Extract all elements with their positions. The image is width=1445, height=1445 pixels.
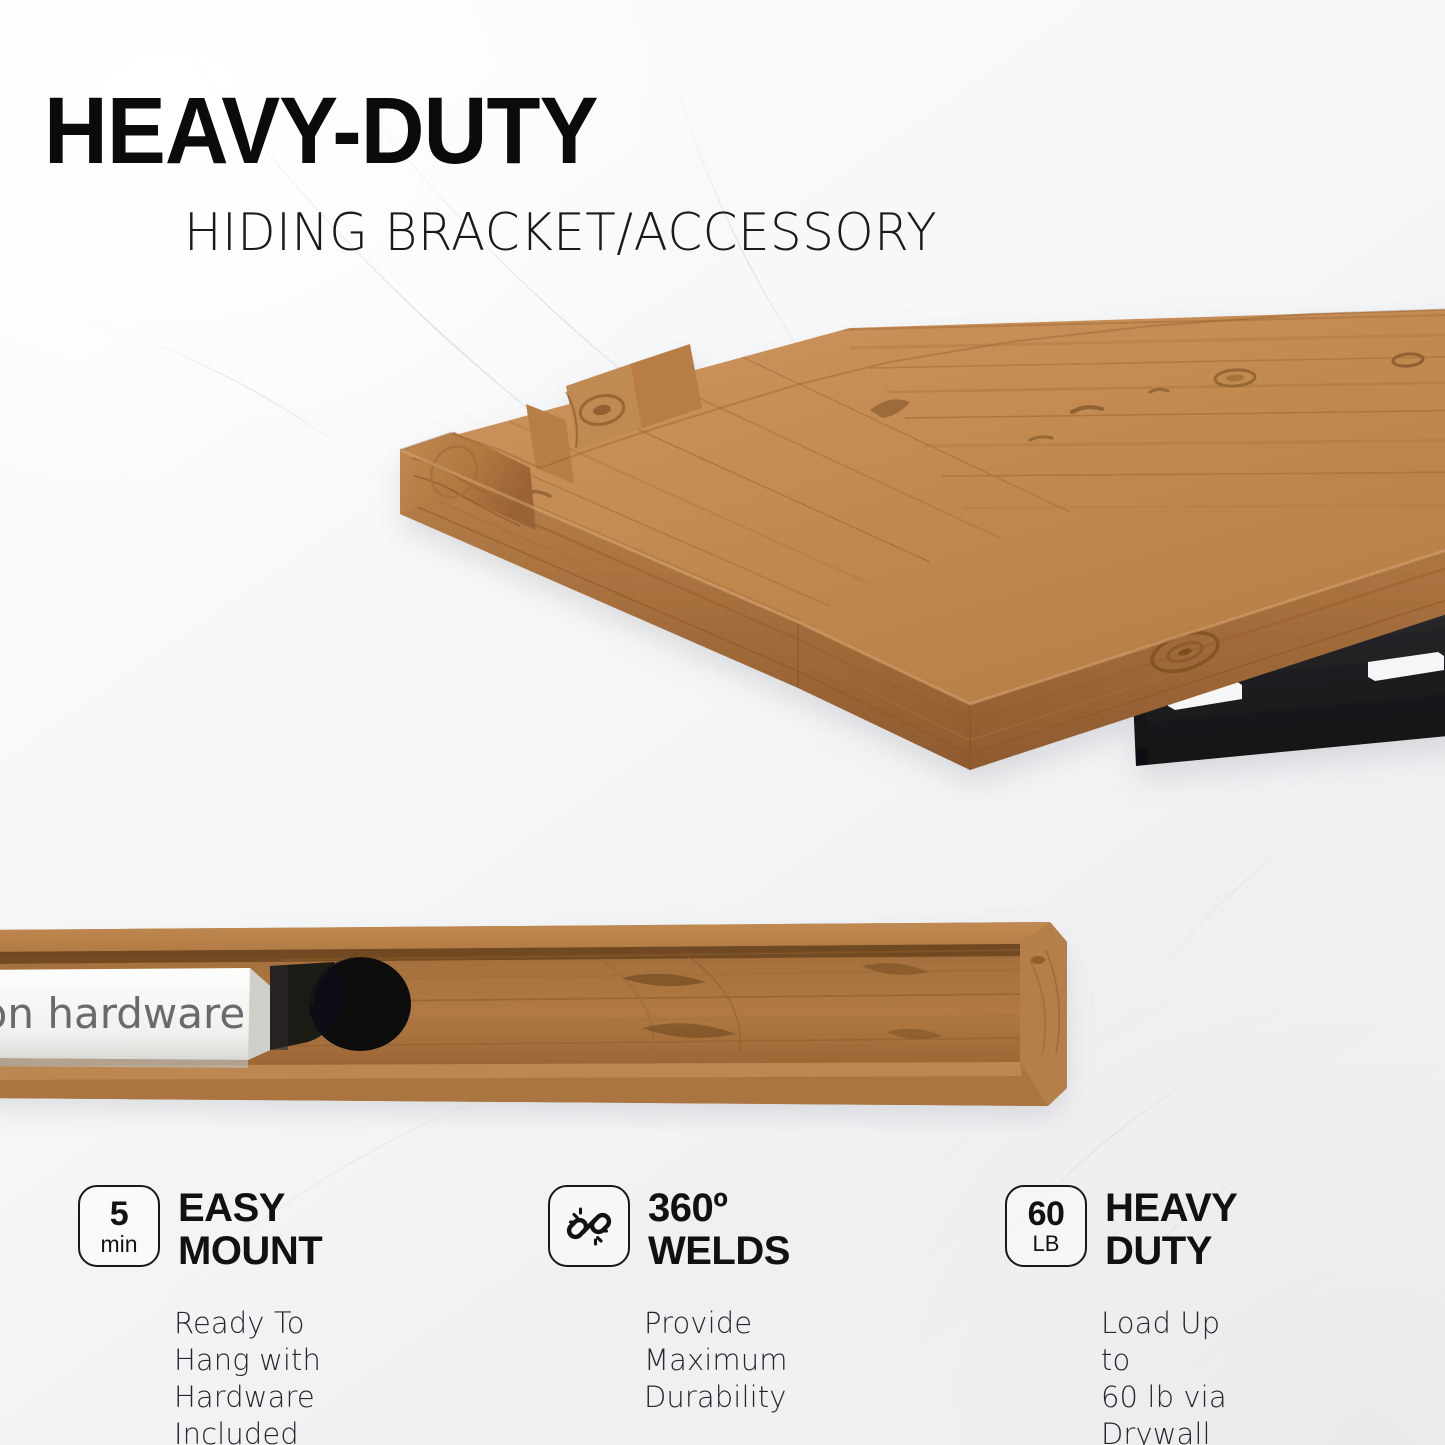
feature-heading: HEAVY DUTY	[1105, 1185, 1237, 1273]
top-shelf-product-photo: Installatio	[330, 300, 1445, 820]
feature-360-welds: 360º WELDS Provide Maximum Durability	[548, 1185, 790, 1273]
chain-link-icon	[548, 1185, 630, 1267]
feature-easy-mount: 5 min EASY MOUNT Ready To Hang with Hard…	[78, 1185, 322, 1273]
badge-unit: LB	[1033, 1233, 1060, 1255]
feature-list: 5 min EASY MOUNT Ready To Hang with Hard…	[0, 1185, 1445, 1425]
five-min-badge-icon: 5 min	[78, 1185, 160, 1267]
installation-hardware-label-bottom: ion hardware	[0, 968, 270, 1068]
bottom-label-text: ion hardware	[0, 989, 245, 1038]
sixty-lb-badge-icon: 60 LB	[1005, 1185, 1087, 1267]
header-block: HEAVY-DUTY HIDING BRACKET/ACCESSORY	[44, 88, 639, 175]
feature-heading: 360º WELDS	[648, 1185, 790, 1273]
badge-value: 60	[1028, 1197, 1065, 1231]
product-marketing-image: HEAVY-DUTY HIDING BRACKET/ACCESSORY	[0, 0, 1445, 1445]
chain-link-glyph	[565, 1202, 613, 1250]
page-subtitle: HIDING BRACKET/ACCESSORY	[184, 203, 937, 263]
feature-description: Provide Maximum Durability	[644, 1305, 790, 1416]
feature-heading: EASY MOUNT	[178, 1185, 322, 1273]
badge-value: 5	[110, 1197, 128, 1231]
feature-description: Ready To Hang with Hardware Included	[174, 1305, 322, 1445]
page-title: HEAVY-DUTY	[44, 88, 598, 175]
badge-unit: min	[100, 1233, 137, 1256]
feature-description: Load Up to 60 lb via Drywall	[1101, 1305, 1237, 1445]
feature-heavy-duty: 60 LB HEAVY DUTY Load Up to 60 lb via Dr…	[1005, 1185, 1237, 1273]
bottom-shelf-product-photo: ion hardware	[0, 900, 1102, 1130]
